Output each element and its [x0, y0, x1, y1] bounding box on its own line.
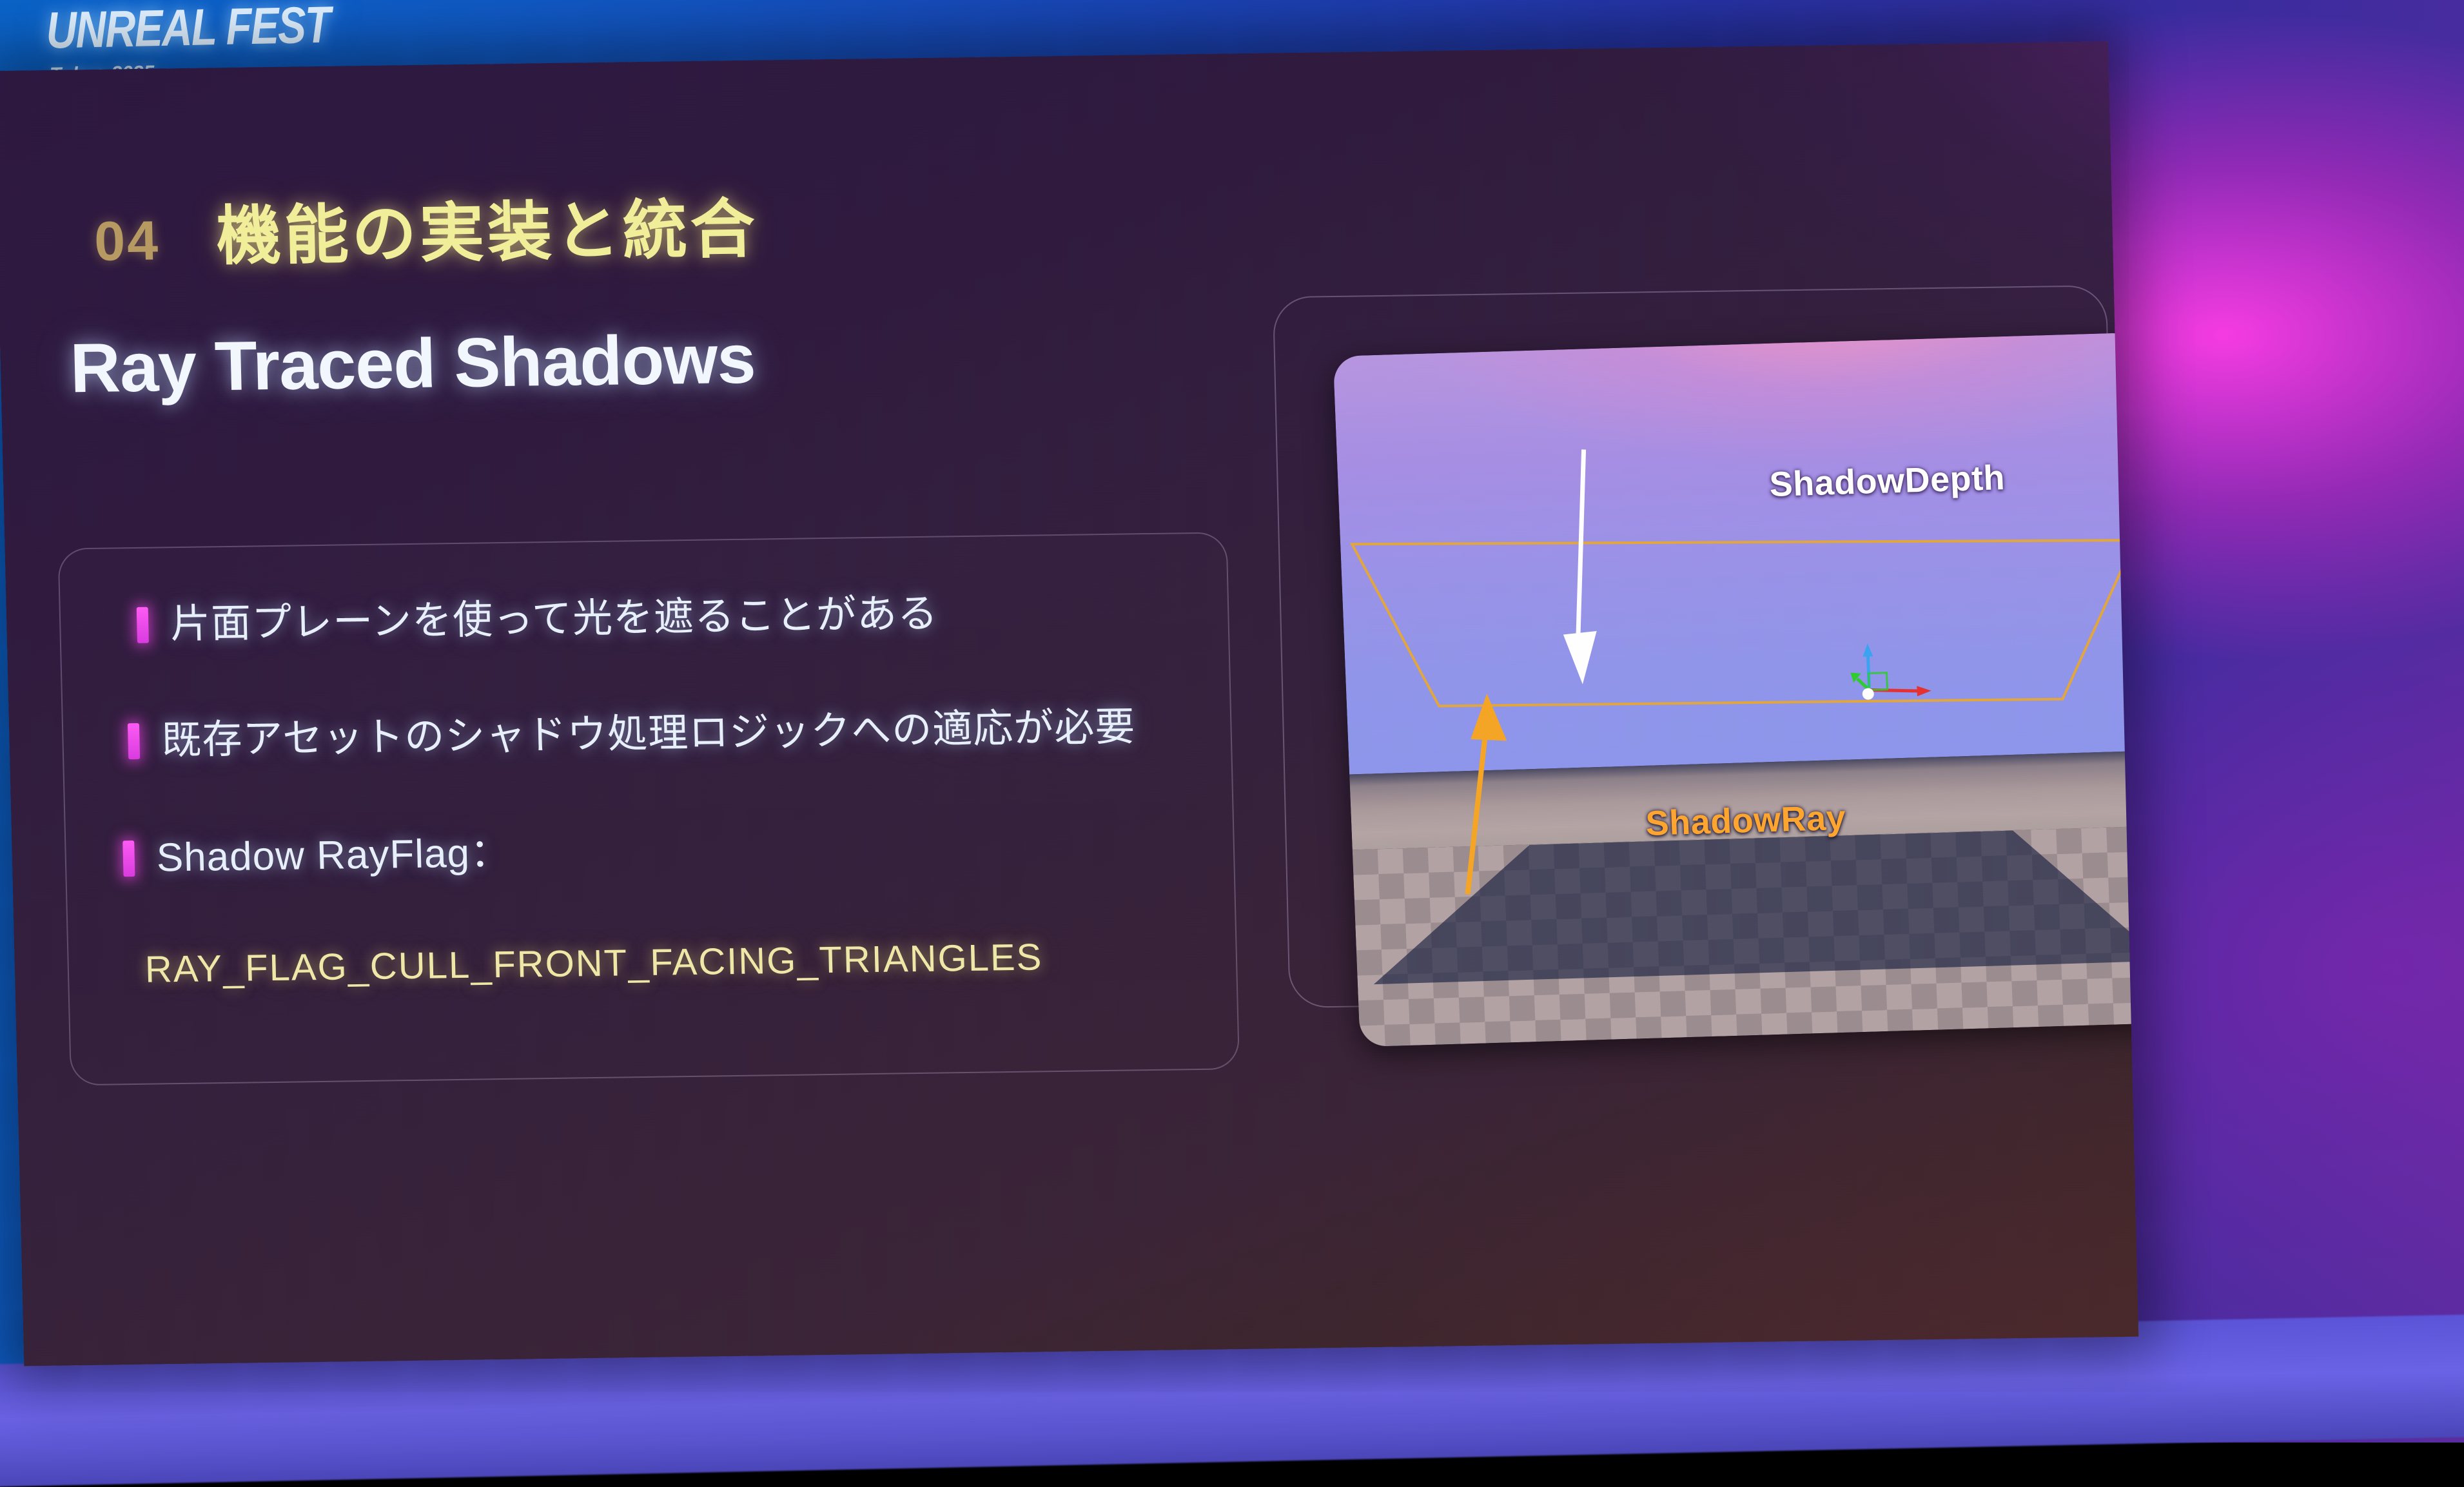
list-item: 既存アセットのシャドウ処理ロジックへの適応が必要 [128, 707, 1136, 761]
bullet-list-card: 片面プレーンを使って光を遮ることがある 既存アセットのシャドウ処理ロジックへの適… [57, 532, 1240, 1085]
event-logo-title: UNREAL FEST [46, 0, 331, 61]
section-title: 機能の実装と統合 [215, 176, 759, 277]
section-header: 04 機能の実装と統合 [93, 176, 759, 278]
list-item: Shadow RayFlag： [122, 833, 511, 879]
list-item-label: 片面プレーンを使って光を遮ることがある [170, 594, 939, 645]
presentation-slide: 04 機能の実装と統合 Ray Traced Shadows 片面プレーンを使っ… [0, 41, 2138, 1366]
engine-viewport-image: ShadowDepth ShadowRay [1333, 333, 2139, 1047]
shadow-ray-arrow-icon [1333, 333, 2139, 1047]
bullet-marker-icon [122, 841, 135, 877]
code-value-text: RAY_FLAG_CULL_FRONT_FACING_TRIANGLES [144, 935, 1043, 991]
slide-headline: Ray Traced Shadows [69, 318, 756, 409]
list-item-label: Shadow RayFlag： [156, 833, 511, 879]
shadow-depth-label: ShadowDepth [1768, 458, 2006, 505]
transform-gizmo-icon [1848, 632, 1935, 712]
list-item-label: 既存アセットのシャドウ処理ロジックへの適応が必要 [161, 707, 1136, 761]
list-item: 片面プレーンを使って光を遮ることがある [137, 594, 939, 645]
bullet-marker-icon [137, 607, 149, 643]
section-number: 04 [93, 209, 161, 273]
shadow-ray-label: ShadowRay [1645, 797, 1846, 843]
bullet-marker-icon [128, 723, 140, 759]
